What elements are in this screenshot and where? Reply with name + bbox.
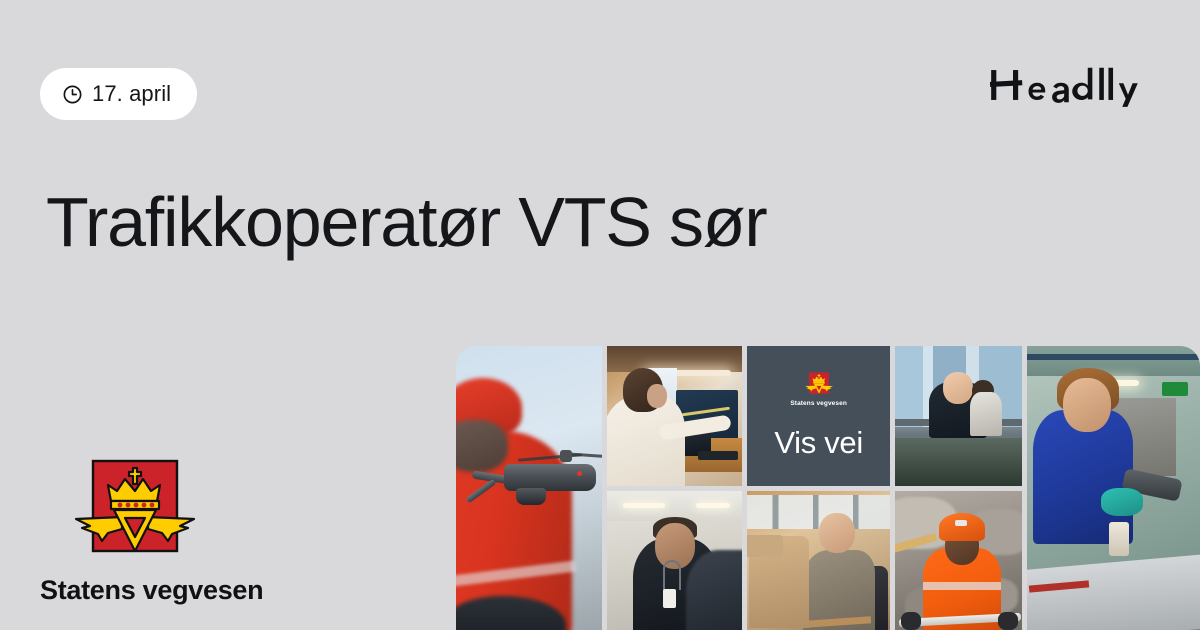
vis-vei-slogan: Vis vei (774, 425, 863, 461)
photo-woman-at-desk (747, 491, 890, 630)
date-label: 17. april (92, 83, 171, 105)
photo-lab-technician (1027, 346, 1200, 630)
photo-drone-operator (456, 346, 602, 630)
date-badge: 17. april (40, 68, 197, 120)
photo-reception-conversation (895, 346, 1022, 486)
social-share-card: 17. april Tra (0, 0, 1200, 630)
photo-man-pointing-at-screen (607, 346, 742, 486)
photo-collage: Statens vegvesen Vis vei (456, 346, 1200, 630)
photo-man-with-lanyard (607, 491, 742, 630)
headly-logo[interactable] (990, 62, 1163, 108)
statens-vegvesen-logo-small-icon (802, 371, 836, 397)
collage-column-site (895, 346, 1022, 630)
statens-vegvesen-logo-icon (40, 455, 340, 565)
collage-column-visvei: Statens vegvesen Vis vei (747, 346, 890, 630)
photo-worker-orange-hivis (895, 491, 1022, 630)
card-vis-vei: Statens vegvesen Vis vei (747, 346, 890, 486)
collage-column-lab (1027, 346, 1200, 630)
collage-column-office (607, 346, 742, 630)
clock-icon (62, 84, 83, 105)
page-title: Trafikkoperatør VTS sør (46, 186, 1046, 260)
vis-vei-org-name: Statens vegvesen (790, 400, 847, 407)
collage-column-drone (456, 346, 602, 630)
advertiser-block: Statens vegvesen (40, 455, 340, 606)
advertiser-name: Statens vegvesen (40, 575, 340, 606)
